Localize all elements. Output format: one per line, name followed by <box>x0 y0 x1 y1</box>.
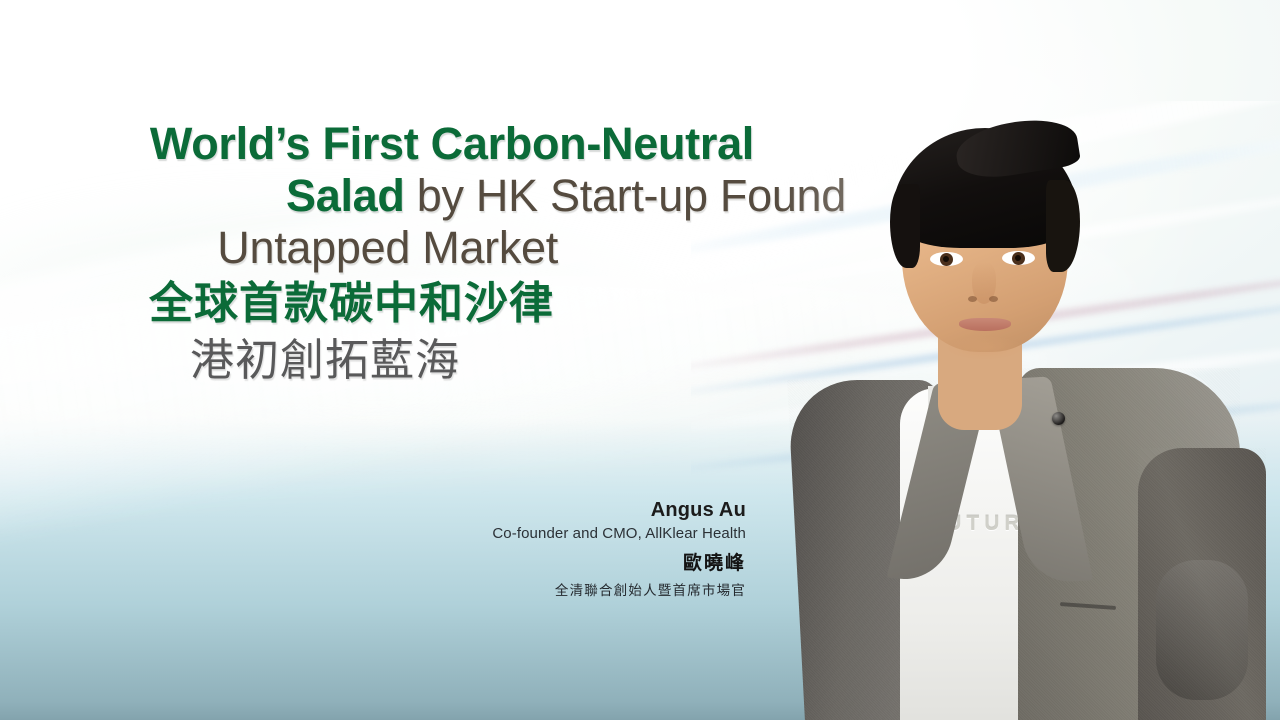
headline-chinese-line-1: 全球首款碳中和沙律 <box>0 275 864 332</box>
sleeve-fold <box>1156 560 1248 700</box>
nostril-left <box>968 296 977 302</box>
lapel-pin-icon <box>1052 412 1065 425</box>
nostril-right <box>989 296 998 302</box>
speaker-name-chinese: 歐曉峰 <box>0 546 746 582</box>
speaker-credit-block: Angus Au Co-founder and CMO, AllKlear He… <box>0 498 746 599</box>
headline-chinese-green-text: 全球首款碳中和沙律 <box>149 279 554 328</box>
headline-line-1: World’s First Carbon-Neutral <box>0 118 864 170</box>
headline-line-3: Untapped Market <box>0 222 864 274</box>
headline-line-1-text: World’s First Carbon-Neutral <box>150 118 754 169</box>
iris-right <box>1012 252 1025 265</box>
mouth <box>959 318 1011 331</box>
headline-chinese-line-2: 港初創拓藍海 <box>0 332 864 389</box>
speaker-portrait: FUTURE <box>760 0 1280 720</box>
hair-side-left <box>890 184 920 268</box>
eye-left <box>930 252 963 266</box>
headline-salad-word: Salad <box>286 170 405 221</box>
iris-left <box>940 253 953 266</box>
speaker-role-chinese: 全清聯合創始人暨首席市場官 <box>0 582 746 600</box>
eye-right <box>1002 251 1035 265</box>
slide-canvas: World’s First Carbon-Neutral Salad by HK… <box>0 0 1280 720</box>
portrait-clip: FUTURE <box>760 0 1280 720</box>
headline-line-2: Salad by HK Start-up Found <box>0 170 864 222</box>
headline-block: World’s First Carbon-Neutral Salad by HK… <box>0 118 880 389</box>
headline-line-3-text: Untapped Market <box>217 222 558 273</box>
speaker-name-english: Angus Au <box>0 498 746 523</box>
speaker-role-english: Co-founder and CMO, AllKlear Health <box>0 523 746 546</box>
headline-chinese-gray-text: 港初創拓藍海 <box>190 336 460 385</box>
chin-highlight <box>946 336 1024 360</box>
